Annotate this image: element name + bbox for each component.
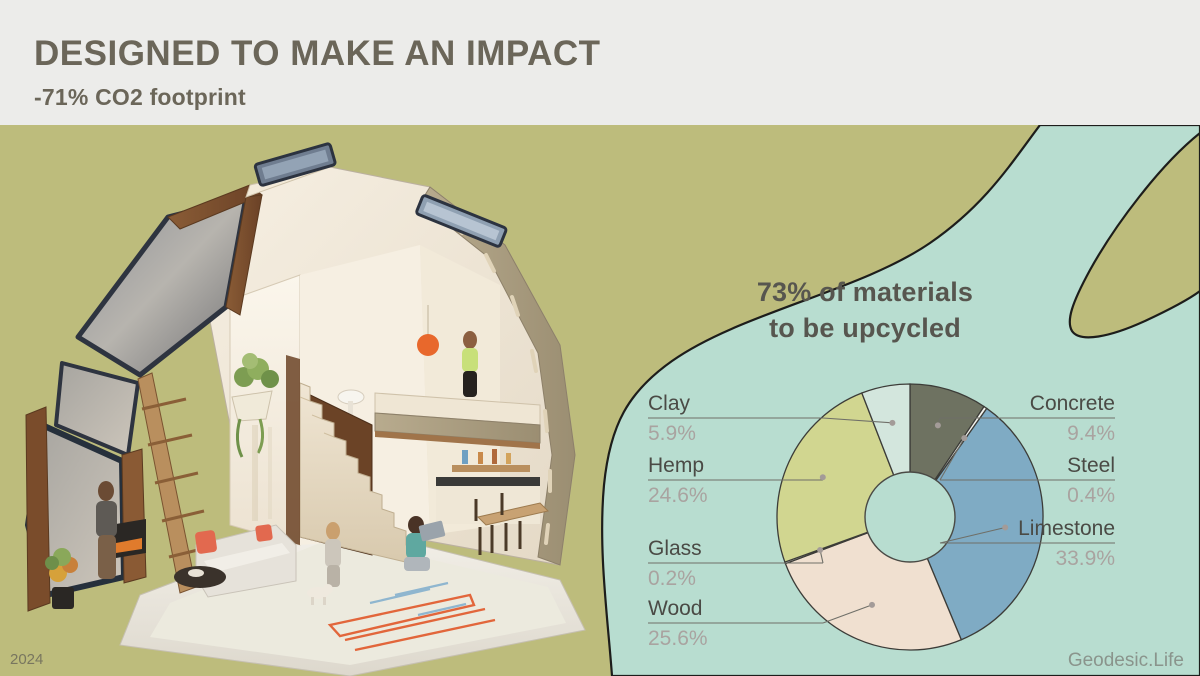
person-child-standing [325,522,341,587]
pie-leader-dot [817,547,823,553]
chart-title: 73% of materials to be upcycled [640,275,1090,347]
pie-leader-dot [935,422,941,428]
slide-root: DESIGNED TO MAKE AN IMPACT -71% CO2 foot… [0,0,1200,676]
page-subtitle: -71% CO2 footprint [34,84,246,111]
pie-label-value: 5.9% [648,422,696,445]
materials-donut-chart: Clay5.9%Hemp24.6%Glass0.2%Wood25.6%Concr… [560,125,1200,676]
kitchen-shelf [452,465,530,472]
pie-leader-dot [820,474,826,480]
pie-label-name: Concrete [1030,392,1115,415]
pie-leader-dot [889,420,895,426]
pie-leader-dot [961,435,967,441]
pie-label-name: Clay [648,392,691,415]
pie-label-value: 25.6% [648,627,708,650]
pie-leader-dot [869,602,875,608]
pie-label-name: Steel [1067,454,1115,477]
pie-label-value: 0.2% [648,567,696,590]
page-title: DESIGNED TO MAKE AN IMPACT [34,34,601,74]
donut-center-hole [865,472,955,562]
brand-label: Geodesic.Life [1068,650,1184,672]
chart-title-line1: 73% of materials [640,275,1090,311]
cushion-red [195,530,218,555]
year-label: 2024 [10,651,43,668]
pie-label-name: Glass [648,537,702,560]
person-mezzanine [462,331,478,397]
header-bar: DESIGNED TO MAKE AN IMPACT -71% CO2 foot… [0,0,1200,125]
pie-label-value: 33.9% [1055,547,1115,570]
coffee-table [174,566,226,588]
pie-label-name: Limestone [1018,517,1115,540]
house-cutaway-render [0,125,620,676]
pie-label-value: 9.4% [1067,422,1115,445]
pie-label-name: Hemp [648,454,704,477]
pie-label-value: 0.4% [1067,484,1115,507]
pie-label-name: Wood [648,597,702,620]
chart-title-line2: to be upcycled [640,311,1090,347]
pie-leader-dot [1002,525,1008,531]
slide-body: 73% of materials to be upcycled Clay5.9%… [0,125,1200,676]
pie-label-value: 24.6% [648,484,708,507]
